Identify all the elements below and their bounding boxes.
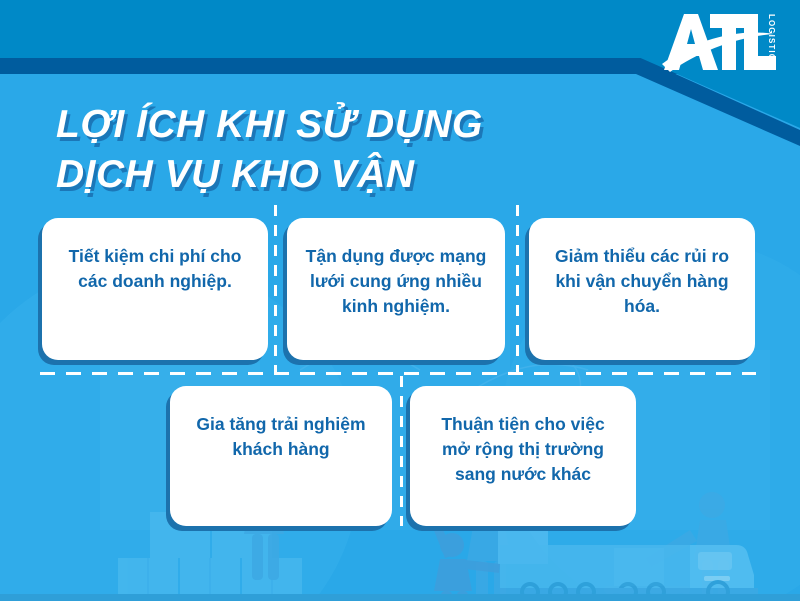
cargo-truck-icon <box>500 545 758 601</box>
divider-vertical-3 <box>400 376 403 526</box>
benefit-card-5[interactable]: Thuận tiện cho việc mở rộng thị trường s… <box>410 386 636 526</box>
benefit-card-2-text: Tận dụng được mạng lưới cung ứng nhiều k… <box>287 218 505 319</box>
logo-subtitle: LOGISTICS <box>767 14 776 67</box>
divider-horizontal-1 <box>40 372 756 375</box>
divider-vertical-2 <box>516 205 519 375</box>
benefit-card-3[interactable]: Giảm thiểu các rủi ro khi vận chuyển hàn… <box>529 218 755 360</box>
benefit-card-2[interactable]: Tận dụng được mạng lưới cung ứng nhiều k… <box>287 218 505 360</box>
divider-vertical-1 <box>274 205 277 375</box>
infographic-poster: LOGISTICS LỢI ÍCH KHI SỬ DỤNG DỊCH VỤ KH… <box>0 0 800 601</box>
benefit-card-5-text: Thuận tiện cho việc mở rộng thị trường s… <box>410 386 636 487</box>
benefit-card-1[interactable]: Tiết kiệm chi phí cho các doanh nghiệp. <box>42 218 268 360</box>
benefit-card-3-text: Giảm thiểu các rủi ro khi vận chuyển hàn… <box>529 218 755 319</box>
page-title: LỢI ÍCH KHI SỬ DỤNG DỊCH VỤ KHO VẬN <box>56 100 616 200</box>
benefit-card-1-text: Tiết kiệm chi phí cho các doanh nghiệp. <box>42 218 268 294</box>
brand-logo: LOGISTICS <box>658 6 778 78</box>
page-title-line-1: LỢI ÍCH KHI SỬ DỤNG <box>56 100 616 150</box>
page-title-line-2: DỊCH VỤ KHO VẬN <box>56 150 616 200</box>
footer-strip <box>0 594 800 601</box>
benefit-card-4[interactable]: Gia tăng trải nghiệm khách hàng <box>170 386 392 526</box>
benefit-card-4-text: Gia tăng trải nghiệm khách hàng <box>170 386 392 462</box>
atl-logo-icon <box>658 6 778 78</box>
